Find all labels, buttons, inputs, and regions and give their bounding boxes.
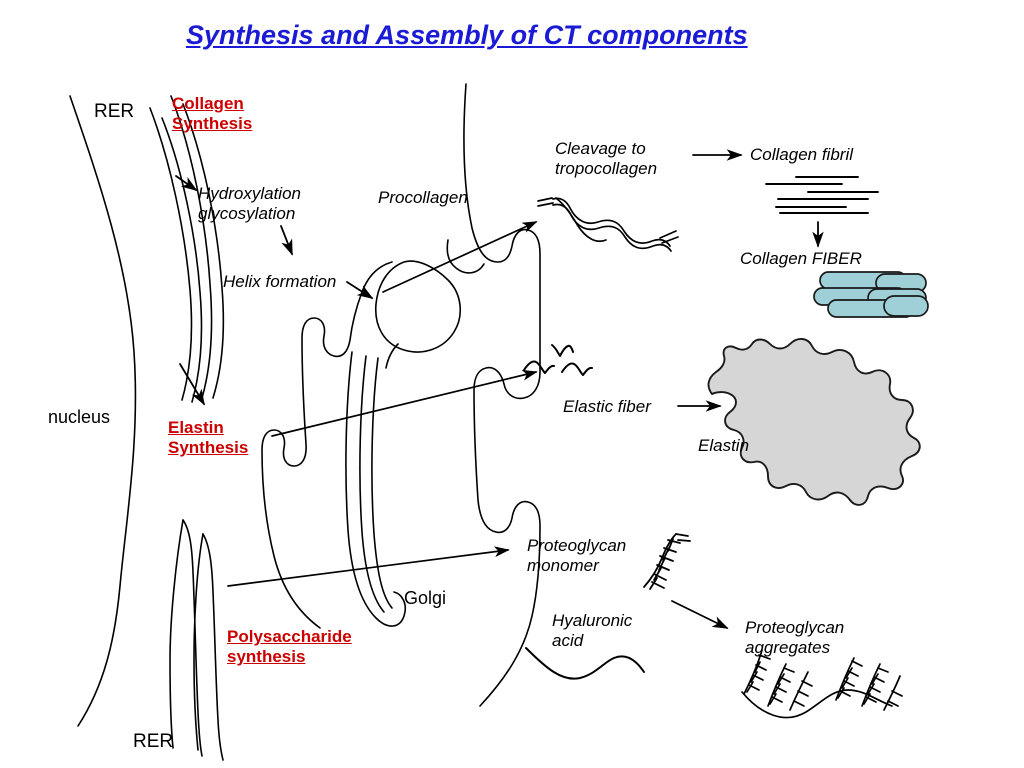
rer-bottom-cisternae (170, 520, 223, 760)
label-proteoglycan-aggregates: Proteoglycan aggregates (745, 618, 844, 658)
arrow-hydroxylation-to-helix (281, 226, 292, 254)
label-collagen-fibril: Collagen fibril (750, 145, 853, 165)
label-elastic-fiber: Elastic fiber (563, 397, 651, 417)
heading-polysaccharide-synthesis: Polysaccharide synthesis (227, 627, 352, 667)
label-rer-bottom: RER (133, 731, 173, 753)
arrow-golgi-to-tropocollagen (383, 222, 536, 292)
collagen-fiber-capsules (814, 272, 928, 317)
label-hyaluronic-acid: Hyaluronic acid (552, 611, 632, 651)
diagram-artwork (0, 0, 1024, 768)
label-rer-top: RER (94, 101, 134, 123)
arrow-to-proteoglycan-aggregates (672, 601, 727, 628)
label-helix-formation: Helix formation (223, 272, 336, 292)
golgi-complex (262, 84, 540, 706)
label-cleavage-to-tropocollagen: Cleavage to tropocollagen (555, 139, 657, 179)
label-golgi: Golgi (404, 588, 446, 609)
label-elastin: Elastin (698, 436, 749, 456)
label-collagen-fiber: Collagen FIBER (740, 249, 862, 269)
diagram-canvas: Synthesis and Assembly of CT components (0, 0, 1024, 768)
arrow-polysaccharide-to-monomer (228, 550, 508, 586)
elastin-blob (709, 339, 920, 505)
tropocollagen-molecule (538, 198, 678, 251)
arrow-rer-to-elastin-synthesis (180, 364, 204, 404)
proteoglycan-aggregates-glyph (742, 650, 902, 718)
label-hydroxylation-glycosylation: Hydroxylation glycosylation (198, 184, 301, 224)
heading-collagen-synthesis: Collagen Synthesis (172, 94, 252, 134)
label-procollagen: Procollagen (378, 188, 468, 208)
arrow-rer-to-hydroxylation (176, 176, 196, 190)
collagen-fibril-lines (766, 177, 878, 213)
heading-elastin-synthesis: Elastin Synthesis (168, 418, 248, 458)
elastic-fiber-squiggles (524, 345, 592, 375)
proteoglycan-monomer-glyph (644, 534, 690, 589)
arrow-elastin-to-elastic-fiber (272, 372, 536, 436)
hyaluronic-acid-chain (526, 648, 644, 679)
label-proteoglycan-monomer: Proteoglycan monomer (527, 536, 626, 576)
arrow-helix-to-golgi (347, 282, 372, 298)
label-nucleus: nucleus (48, 407, 110, 428)
rer-top-cisternae (150, 96, 223, 402)
